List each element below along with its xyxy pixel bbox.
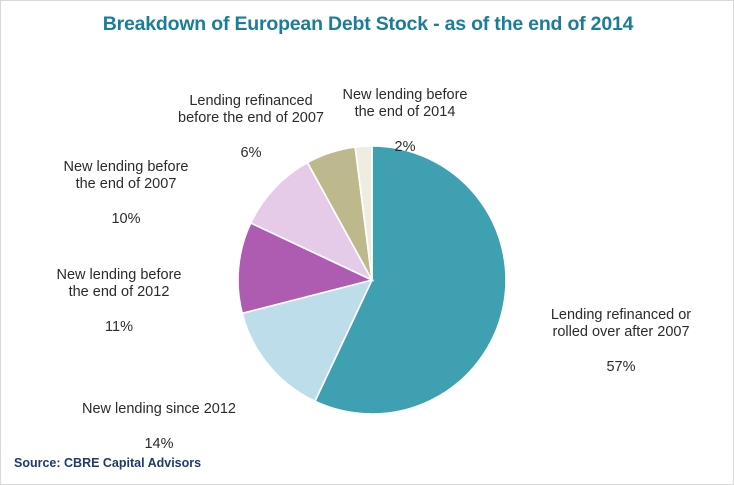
pie-slice-label-1-percent: 14% (43, 436, 275, 454)
pie-slice-label-5: New lending before the end of 2014 2% (325, 69, 485, 174)
pie-slice-label-0-name: Lending refinanced or rolled over after … (521, 307, 721, 342)
source-note: Source: CBRE Capital Advisors (14, 456, 201, 470)
pie-slice-label-2: New lending before the end of 2012 11% (21, 249, 217, 354)
pie-slice-label-4-name: Lending refinanced before the end of 200… (151, 93, 351, 128)
pie-slice-label-2-name: New lending before the end of 2012 (21, 267, 217, 302)
pie-slice-label-0-percent: 57% (521, 359, 721, 377)
pie-slice-label-0: Lending refinanced or rolled over after … (521, 289, 721, 394)
pie-slice-label-4: Lending refinanced before the end of 200… (151, 75, 351, 180)
pie-chart (233, 145, 511, 415)
pie-slice-label-5-percent: 2% (325, 139, 485, 157)
chart-page: Breakdown of European Debt Stock - as of… (0, 0, 734, 485)
pie-slice-label-3-percent: 10% (35, 211, 217, 229)
pie-slice-label-2-percent: 11% (21, 319, 217, 337)
page-title: Breakdown of European Debt Stock - as of… (1, 13, 734, 36)
pie-slice-label-1-name: New lending since 2012 (43, 401, 275, 419)
pie-slice-label-4-percent: 6% (151, 145, 351, 163)
pie-slice-label-5-name: New lending before the end of 2014 (325, 87, 485, 122)
pie-chart-svg (233, 145, 511, 415)
